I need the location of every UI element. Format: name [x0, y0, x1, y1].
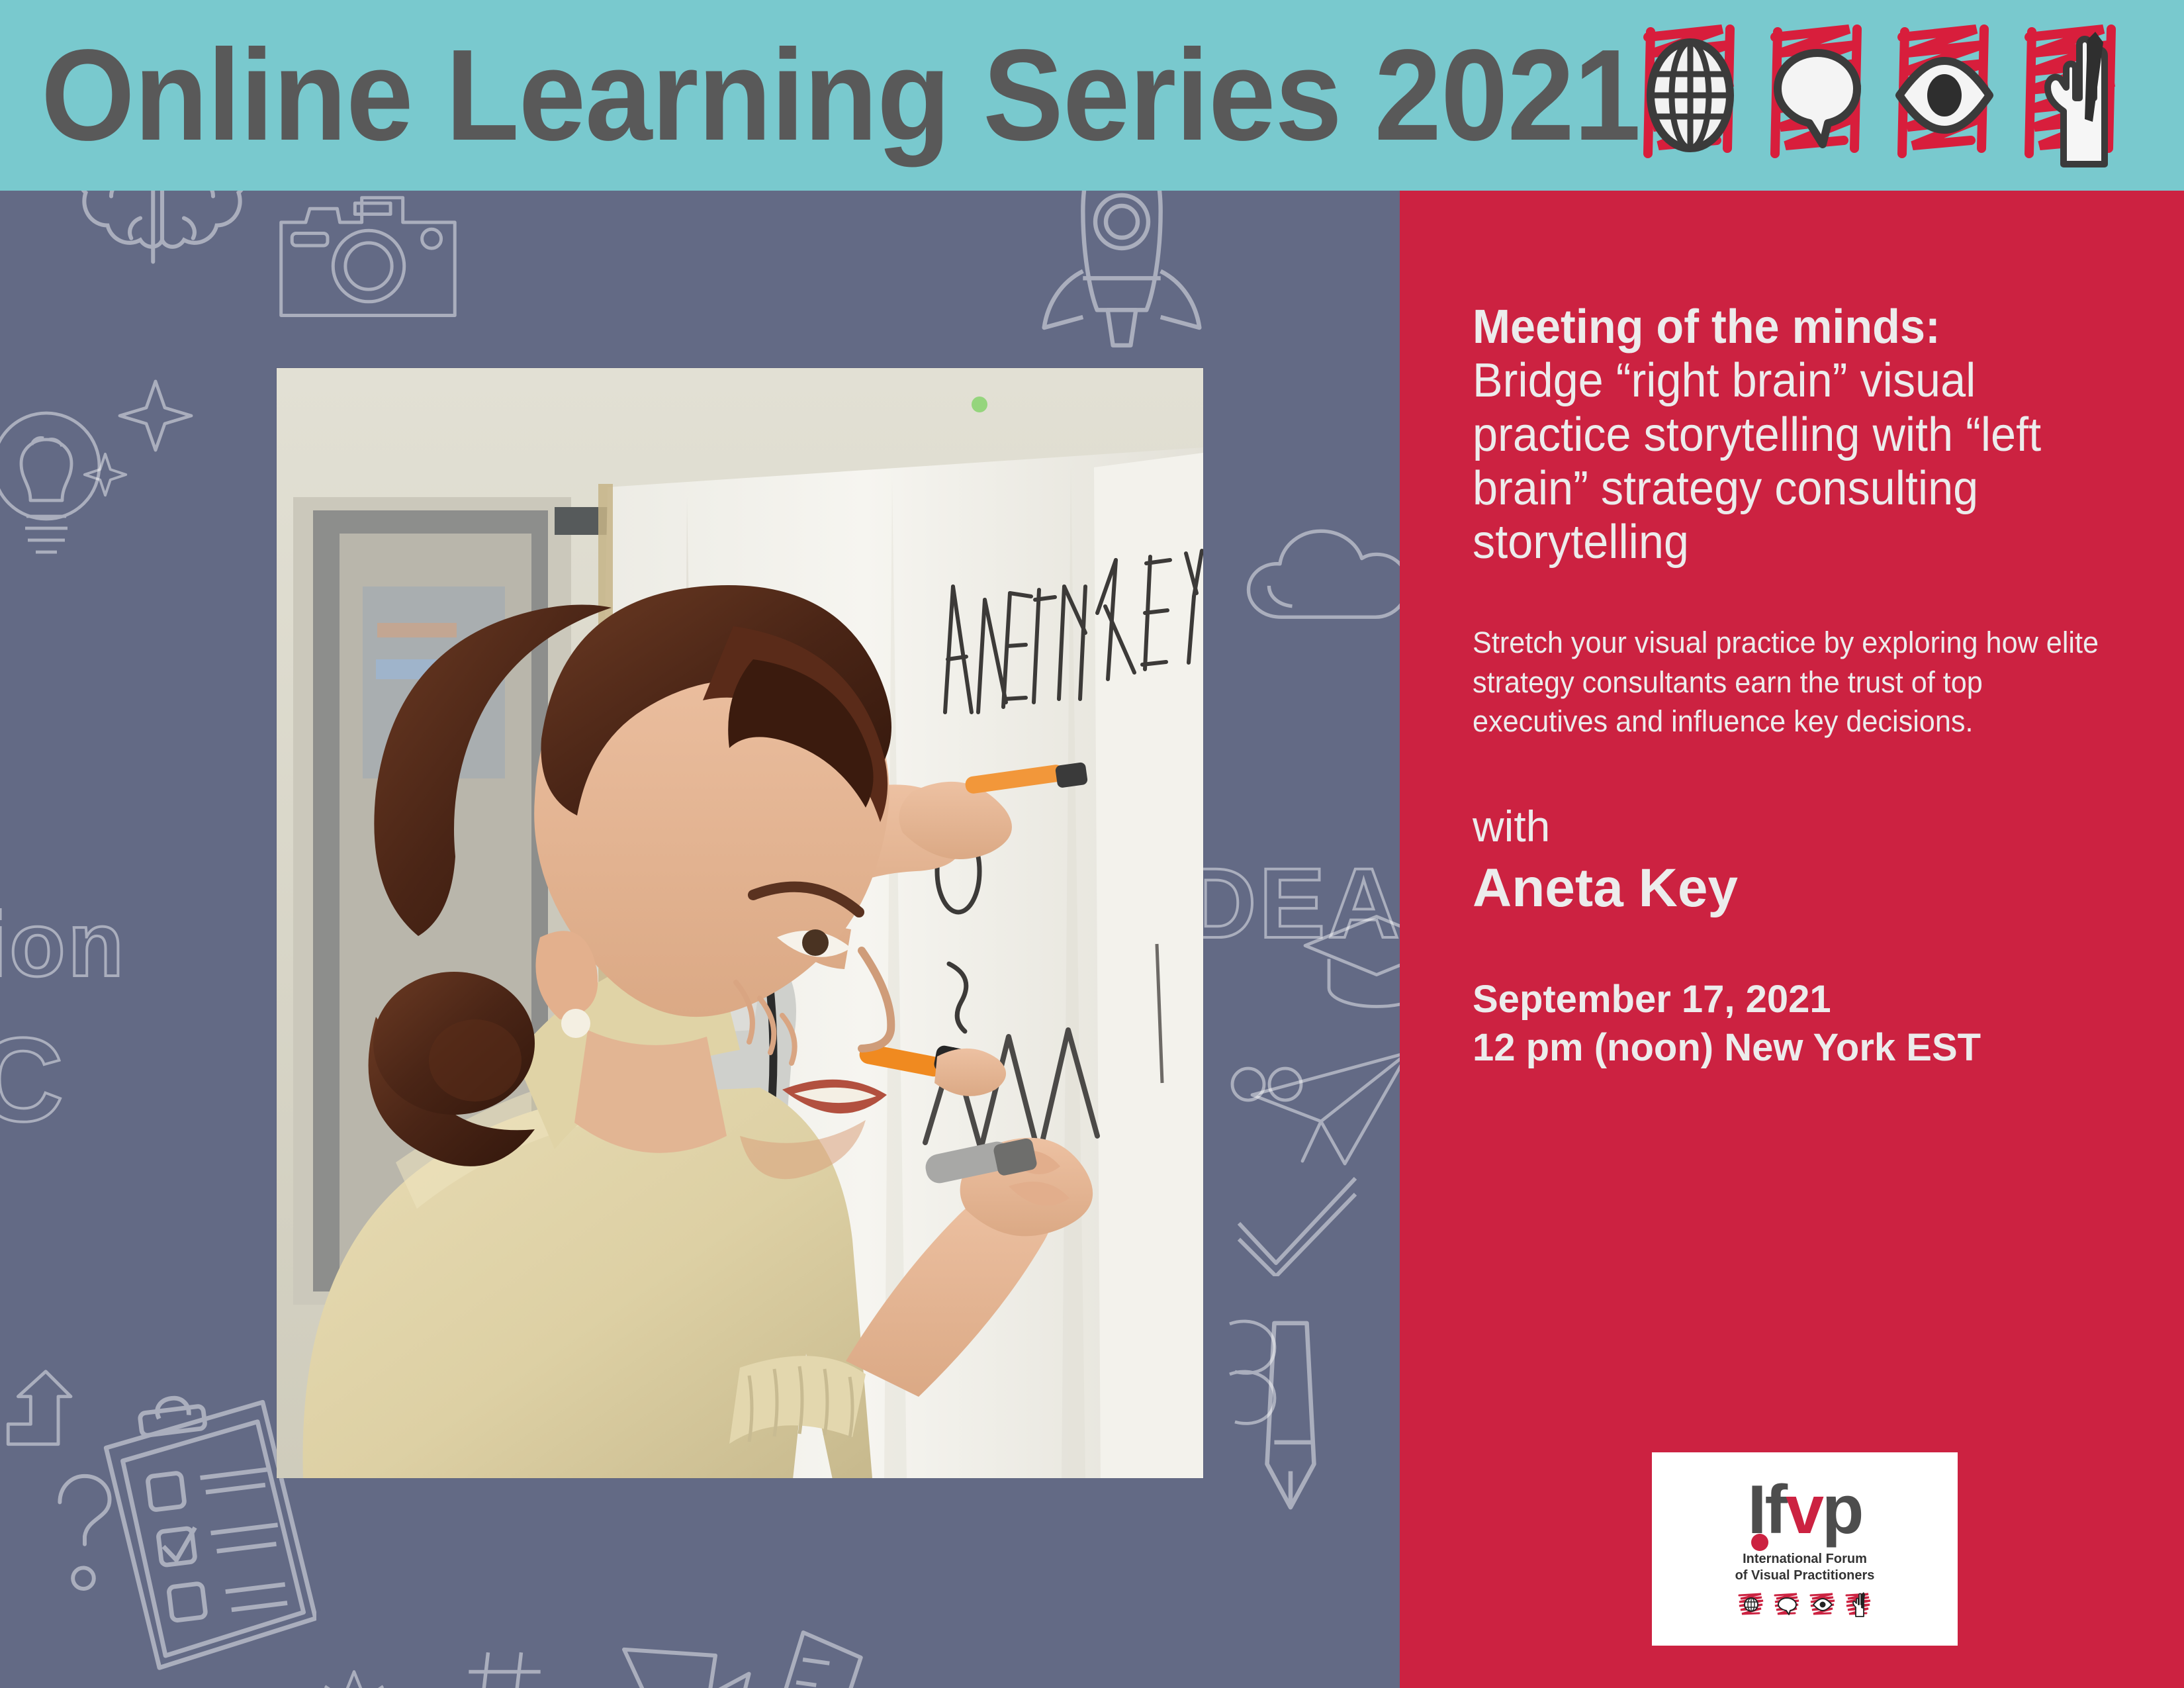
up-arrow-doodle [609, 1640, 761, 1688]
logo-wordmark-v: v [1786, 1472, 1822, 1548]
ion-word-doodle: ion [0, 892, 126, 998]
star-doodle [318, 1667, 390, 1688]
c-letter-doodle: C [0, 1011, 66, 1149]
ifvp-logo: Ifvp International Forum of Visual Pract… [1652, 1452, 1958, 1646]
graduation-cap-doodle [1297, 906, 1400, 1015]
with-label: with [1473, 802, 2142, 851]
speaker-name: Aneta Key [1473, 859, 2142, 918]
camera-doodle [273, 191, 465, 326]
sparkle-doodle [116, 376, 195, 455]
logo-subtitle-line1: International Forum [1735, 1551, 1875, 1567]
brain-doodle [53, 191, 271, 316]
event-headline: Meeting of the minds: Bridge “right brai… [1473, 301, 2108, 570]
logo-subtitle: International Forum of Visual Practition… [1735, 1551, 1875, 1583]
hand-with-pen-icon [2016, 16, 2127, 173]
checkmark-doodle [1231, 1170, 1363, 1276]
up-arrow-doodle [3, 1369, 79, 1452]
logo-speech-bubble-icon [1772, 1591, 1802, 1618]
logo-subtitle-line2: of Visual Practitioners [1735, 1568, 1875, 1583]
ruler-doodle [754, 1627, 874, 1688]
logo-globe-icon [1736, 1591, 1766, 1618]
headline-strong: Meeting of the minds: [1473, 301, 2108, 354]
headline-rest: Bridge “right brain” visual practice sto… [1473, 354, 2041, 569]
globe-icon [1635, 16, 1746, 173]
sparkle-doodle [79, 449, 131, 500]
event-description: Stretch your visual practice by explorin… [1473, 623, 2115, 742]
speech-bubble-icon [1762, 16, 1873, 173]
logo-wordmark: Ifvp [1748, 1480, 1862, 1541]
workshop-photo [277, 368, 1203, 1478]
logo-hand-with-pen-icon [1843, 1591, 1874, 1618]
logo-dot [1751, 1534, 1768, 1551]
cloud-doodle [1238, 502, 1400, 634]
header-icon-row [1635, 16, 2127, 173]
event-datetime: September 17, 2021 12 pm (noon) New York… [1473, 975, 2142, 1072]
rocket-doodle [1032, 191, 1211, 359]
logo-eye-icon [1807, 1591, 1838, 1618]
eye-icon [1889, 16, 2000, 173]
event-time: 12 pm (noon) New York EST [1473, 1023, 2142, 1072]
sparkle-doodle [1224, 1051, 1317, 1117]
poster-canvas: DEA [0, 0, 2184, 1688]
cloud-doodle [1211, 1316, 1304, 1429]
event-date: September 17, 2021 [1473, 975, 2142, 1023]
header-bar: Online Learning Series 2021 [0, 0, 2184, 191]
logo-icon-row [1736, 1591, 1874, 1618]
hashtag-doodle [463, 1647, 546, 1688]
logo-wordmark-part2: p [1822, 1472, 1862, 1548]
page-title: Online Learning Series 2021 [41, 30, 1640, 160]
